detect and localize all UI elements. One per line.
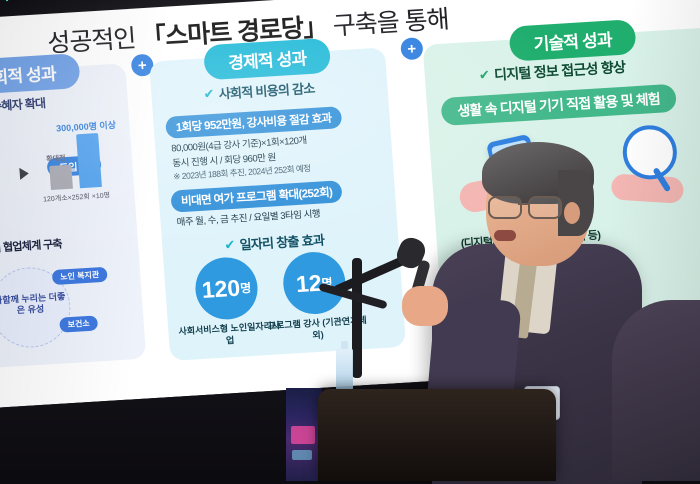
- technical-check-1: ✔ 디지털 정보 접근성 향상: [478, 57, 626, 86]
- bar-after-baseline: 확대전: [49, 165, 73, 190]
- social-check-1-label: 프로그램 수혜자 확대: [0, 94, 46, 117]
- headline-prefix: 성공적인: [47, 25, 137, 58]
- economic-check-1-label: 사회적 비용의 감소: [218, 78, 315, 103]
- economic-check-2: ✔ 일자리 창출 효과: [224, 229, 325, 254]
- stat-circle-2: 12명: [281, 250, 347, 316]
- social-collaboration-diagram: 다함께 누리는 더좋은 유성 진흥원 노인 복지관 주민회 지회 보건소: [0, 252, 125, 359]
- stat-1-value: 120: [201, 276, 241, 301]
- topbar-brand: 디지털 선도사업: [0, 0, 105, 5]
- diagram-node-4: 보건소: [59, 315, 98, 332]
- social-check-1: ✔ 프로그램 수혜자 확대: [0, 94, 46, 118]
- economic-check-1: ✔ 사회적 비용의 감소: [203, 78, 315, 104]
- chart-bars-after: 확대전 300,000명 이상: [30, 130, 118, 191]
- speaker-mouth: [494, 230, 516, 241]
- handheld-microphone: [398, 238, 452, 280]
- check-icon: ✔: [478, 67, 489, 84]
- social-bar-chart: 도입 전 14,000명 개소×16회×15명 도입 후: [0, 111, 130, 229]
- chart-value-after: 300,000명 이상: [56, 118, 117, 135]
- headline-suffix: 구축을 통해: [332, 5, 450, 40]
- diagram-node-2: 노인 복지관: [52, 267, 108, 285]
- chart-arrow-icon: [19, 167, 29, 180]
- speaker-ear: [564, 202, 580, 224]
- glasses-bridge: [518, 203, 528, 205]
- diagram-center-label: 다함께 누리는 더좋은 유성: [0, 291, 67, 318]
- glasses-lens-left: [488, 196, 522, 219]
- stat-circle-1: 120명: [193, 256, 259, 322]
- technical-bar-1: 생활 속 디지털 기기 직접 활용 및 체험: [440, 84, 676, 126]
- economic-bar-1: 1회당 952만원, 강사비용 절감 효과: [165, 106, 342, 139]
- check-icon: ✔: [224, 236, 235, 253]
- panel-technical-title: 기술적 성과: [508, 19, 636, 62]
- bar-after-value: 300,000명 이상: [76, 133, 102, 188]
- speaker-hand: [402, 286, 448, 326]
- panel-social-title: 사회적 성과: [0, 53, 81, 96]
- audience-shoulder: [612, 300, 700, 481]
- stage-background: 디지털 선도사업 | 스마트 경로당 구축 성공적인 「스마트 경로당」 구축을…: [0, 0, 700, 481]
- stat-2-value: 12: [295, 271, 322, 296]
- podium-lectern: [318, 389, 556, 481]
- glasses-lens-right: [528, 196, 562, 219]
- economic-check-2-label: 일자리 창출 효과: [239, 229, 325, 253]
- water-bottle: [336, 348, 353, 392]
- check-icon: ✔: [203, 85, 214, 102]
- chart-sub-after: 120개소×252회 ×10명: [43, 190, 111, 204]
- plus-connector-2: +: [400, 37, 424, 60]
- chart-group-after: 도입 후 확대전 300,000명 이상 120개소×252회 ×10명: [35, 200, 119, 205]
- stat-1-unit: 명: [240, 278, 252, 296]
- panel-economic: 경제적 성과 ✔ 사회적 비용의 감소 1회당 952만원, 강사비용 절감 효…: [149, 47, 406, 361]
- panel-social: 사회적 성과 ✔ 프로그램 수혜자 확대 도입 전 14,000명: [0, 63, 146, 372]
- panel-economic-title: 경제적 성과: [203, 38, 331, 81]
- glasses-icon: [488, 196, 564, 216]
- chart-bars-before: 14,000명: [0, 137, 10, 198]
- chart-group-before: 도입 전 14,000명 개소×16회×15명: [0, 206, 11, 211]
- event-banner: [286, 388, 322, 481]
- chart-small-after: 확대전: [46, 153, 66, 164]
- technical-check-1-label: 디지털 정보 접근성 향상: [493, 57, 626, 85]
